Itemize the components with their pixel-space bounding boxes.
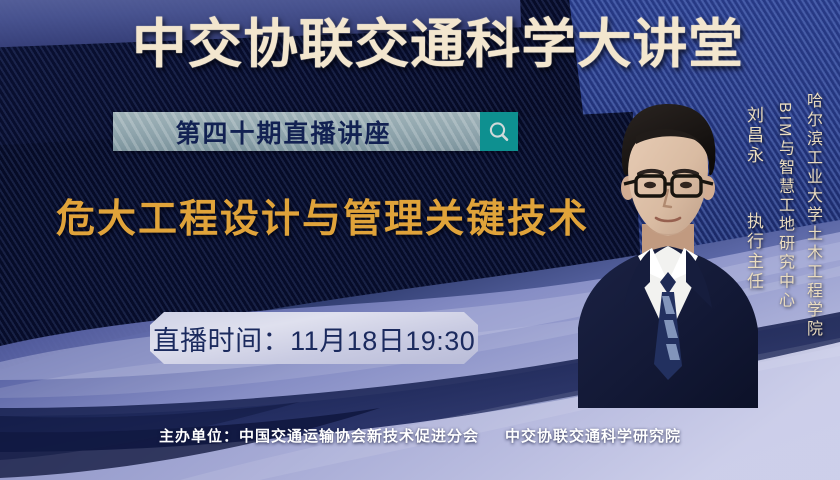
lecture-title: 危大工程设计与管理关键技术 <box>56 188 576 244</box>
speaker-org-line-1: 哈尔滨工业大学土木工程学院 <box>800 92 824 339</box>
speaker-org-line-2: BIM与智慧工地研究中心 <box>772 102 796 310</box>
speaker-role: 执行主任 <box>741 212 766 292</box>
speaker-name: 刘昌永 <box>741 106 766 166</box>
footer-prefix: 主办单位： <box>159 425 239 446</box>
episode-bar: 第四十期直播讲座 <box>113 112 518 151</box>
broadcast-time-plate: 直播时间：11月18日19:30 <box>150 312 478 364</box>
broadcast-time-text: 直播时间：11月18日19:30 <box>153 319 476 358</box>
footer-organizers: 主办单位：中国交通运输协会新技术促进分会中交协联交通科学研究院 <box>0 425 840 446</box>
search-icon[interactable] <box>480 112 518 151</box>
footer-org-b: 中交协联交通科学研究院 <box>505 425 681 446</box>
episode-label: 第四十期直播讲座 <box>175 114 417 150</box>
poster-canvas: 中交协联交通科学大讲堂 第四十期直播讲座 危大工程设计与管理关键技术 直播时间：… <box>0 0 840 480</box>
speaker-portrait <box>576 96 760 408</box>
episode-bar-body: 第四十期直播讲座 <box>113 112 480 151</box>
page-title: 中交协联交通科学大讲堂 <box>132 14 729 76</box>
footer-org-a: 中国交通运输协会新技术促进分会 <box>239 425 479 446</box>
